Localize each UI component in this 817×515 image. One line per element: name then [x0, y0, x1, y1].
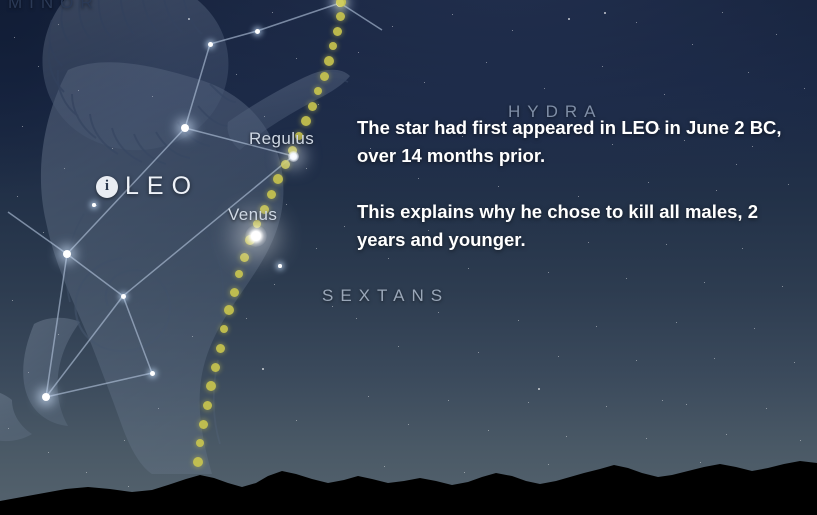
leo-constellation-label[interactable]: i LEO [96, 172, 199, 201]
planet-trail-dot[interactable] [224, 305, 234, 315]
planet-trail-dot[interactable] [211, 363, 220, 372]
constellation-star[interactable] [278, 264, 282, 268]
constellation-lines [0, 0, 817, 515]
planet-trail-dot[interactable] [230, 288, 239, 297]
planet-trail-dot[interactable] [216, 344, 225, 353]
info-circle-icon[interactable]: i [96, 176, 118, 198]
planet-trail-dot[interactable] [203, 401, 212, 410]
planet-trail-dot[interactable] [308, 102, 317, 111]
planet-trail-dot[interactable] [273, 174, 283, 184]
regulus-label[interactable]: Regulus [249, 129, 314, 149]
sextans-label[interactable]: SEXTANS [322, 286, 449, 306]
leo-label-text: LEO [125, 172, 199, 201]
constellation-star[interactable] [255, 29, 260, 34]
horizon-silhouette [0, 445, 817, 515]
venus-label[interactable]: Venus [228, 205, 277, 225]
planet-trail-dot[interactable] [220, 325, 228, 333]
constellation-star[interactable] [63, 250, 71, 258]
venus-planet[interactable] [245, 225, 267, 247]
narration-overlay: The star had first appeared in LEO in Ju… [357, 114, 809, 254]
narration-paragraph-2: This explains why he chose to kill all m… [357, 198, 809, 254]
planet-trail-dot[interactable] [235, 270, 243, 278]
planet-trail-dot[interactable] [336, 12, 345, 21]
planet-trail-dot[interactable] [301, 116, 311, 126]
planet-trail-dot[interactable] [206, 381, 216, 391]
planet-trail-dot[interactable] [314, 87, 322, 95]
constellation-star[interactable] [181, 124, 189, 132]
planetarium-view[interactable]: Regulus Venus MINOR HYDRA SEXTANS i LEO … [0, 0, 817, 515]
planet-trail-dot[interactable] [324, 56, 334, 66]
regulus-star[interactable] [288, 151, 299, 162]
constellation-star[interactable] [42, 393, 50, 401]
planet-trail-dot[interactable] [320, 72, 329, 81]
constellation-star[interactable] [150, 371, 155, 376]
planet-trail-dot[interactable] [240, 253, 249, 262]
planet-trail-dot[interactable] [281, 160, 290, 169]
planet-trail-dot[interactable] [199, 420, 208, 429]
planet-trail-dot[interactable] [329, 42, 337, 50]
constellation-star[interactable] [92, 203, 96, 207]
constellation-star[interactable] [121, 294, 126, 299]
planet-trail-dot[interactable] [333, 27, 342, 36]
planet-trail-dot[interactable] [267, 190, 276, 199]
leo-minor-label[interactable]: MINOR [8, 0, 100, 13]
constellation-star[interactable] [208, 42, 213, 47]
narration-paragraph-1: The star had first appeared in LEO in Ju… [357, 114, 809, 170]
